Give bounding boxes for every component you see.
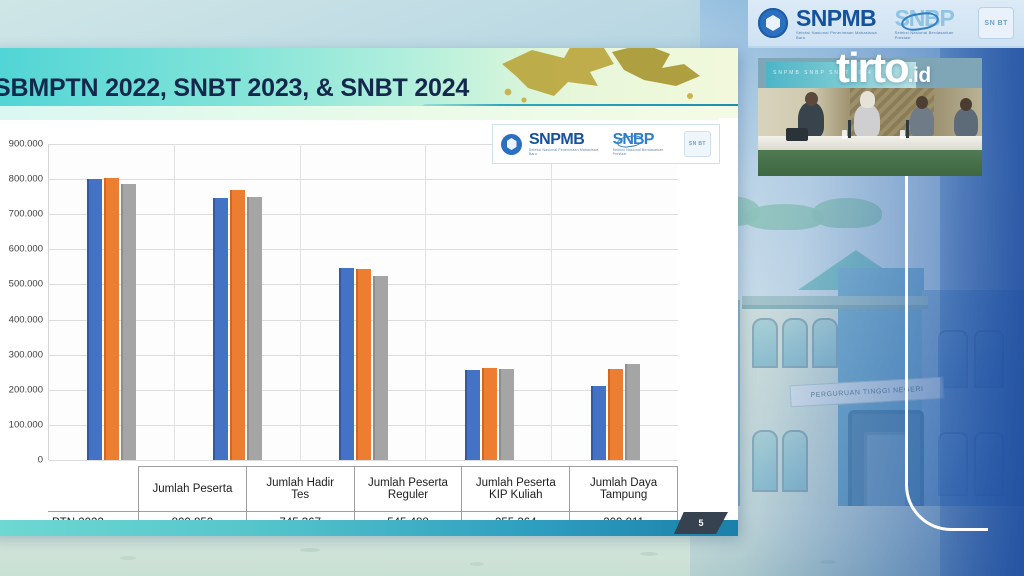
table-column-header: Jumlah PesertaReguler bbox=[354, 467, 462, 512]
tirto-watermark: tirto.id bbox=[836, 47, 931, 89]
chart-group bbox=[552, 144, 678, 460]
y-axis-tick-label: 300.000 bbox=[9, 349, 43, 360]
bar-chart: 900.000800.000700.000600.000500.000400.0… bbox=[0, 136, 696, 476]
bar-snbt-2024[interactable] bbox=[373, 276, 388, 460]
chart-group bbox=[49, 144, 175, 460]
chart-gridline: 0 bbox=[49, 460, 678, 461]
chart-group bbox=[301, 144, 427, 460]
panelist-head bbox=[805, 92, 818, 106]
slide-logo-bar: SNPMB Seleksi Nasional Penerimaan Mahasi… bbox=[492, 124, 720, 164]
screenshot-stage: PERGURUAN TINGGI NEGERI SNPMB Seleksi Na… bbox=[0, 0, 1024, 576]
bar-sbmptn-2022[interactable] bbox=[339, 268, 354, 460]
bar-sbmptn-2022[interactable] bbox=[465, 370, 480, 460]
table-header-row: Jumlah PesertaJumlah HadirTesJumlah Pese… bbox=[48, 467, 678, 512]
glass-icon bbox=[900, 130, 905, 139]
video-plants bbox=[758, 150, 982, 176]
glass-icon bbox=[842, 130, 847, 139]
y-axis-tick-label: 600.000 bbox=[9, 244, 43, 255]
snpmb-wordmark: SNPMB bbox=[529, 132, 606, 148]
tut-wuri-handayani-crest-icon bbox=[758, 8, 788, 38]
slide-right-gutter bbox=[718, 118, 738, 520]
snpmb-wordmark: SNPMB bbox=[796, 7, 887, 30]
tut-wuri-handayani-crest-icon bbox=[501, 134, 522, 155]
y-axis-tick-label: 800.000 bbox=[9, 174, 43, 185]
table-column-header: Jumlah PesertaKIP Kuliah bbox=[462, 467, 570, 512]
ground-speck bbox=[300, 548, 320, 552]
snpmb-tagline: Seleksi Nasional Penerimaan Mahasiswa Ba… bbox=[529, 148, 606, 156]
bar-snbt-2024[interactable] bbox=[247, 197, 262, 460]
y-axis-tick-label: 500.000 bbox=[9, 279, 43, 290]
chart-plot-area: 900.000800.000700.000600.000500.000400.0… bbox=[48, 144, 678, 460]
snbt-logo-icon: SN BT bbox=[684, 131, 711, 157]
panelist bbox=[954, 108, 978, 138]
snbp-tagline: Seleksi Nasional Berdasarkan Prestasi bbox=[613, 148, 677, 156]
snbp-tagline: Seleksi Nasional Berdasarkan Prestasi bbox=[895, 30, 971, 40]
snbt-logo-icon: SN BT bbox=[978, 7, 1014, 39]
slide-number: 5 bbox=[698, 518, 703, 528]
panelist-head bbox=[960, 98, 972, 111]
microphone-icon bbox=[848, 120, 851, 138]
laptop-icon bbox=[786, 128, 808, 141]
chart-group bbox=[426, 144, 552, 460]
y-axis-tick-label: 700.000 bbox=[9, 209, 43, 220]
panelist bbox=[910, 106, 934, 138]
decorative-bracket bbox=[905, 128, 988, 531]
bar-snbt-2023[interactable] bbox=[230, 190, 245, 460]
snpmb-banner: SNPMB Seleksi Nasional Penerimaan Mahasi… bbox=[748, 0, 1024, 48]
ground-speck bbox=[640, 552, 658, 556]
bar-snbt-2023[interactable] bbox=[356, 269, 371, 460]
slide-header-strip bbox=[0, 106, 738, 120]
snbp-wordmark: SNBP bbox=[613, 132, 677, 148]
microphone-icon bbox=[906, 120, 909, 138]
bar-sbmptn-2022[interactable] bbox=[87, 179, 102, 460]
bar-snbt-2024[interactable] bbox=[625, 364, 640, 460]
ground-speck bbox=[470, 562, 484, 566]
bar-snbt-2024[interactable] bbox=[121, 184, 136, 460]
panelist bbox=[854, 104, 880, 138]
bar-sbmptn-2022[interactable] bbox=[213, 198, 228, 460]
y-axis-tick-label: 200.000 bbox=[9, 384, 43, 395]
bar-sbmptn-2022[interactable] bbox=[591, 386, 606, 460]
presentation-slide: SBMPTN 2022, SNBT 2023, & SNBT 2024 SNPM… bbox=[0, 48, 738, 536]
ground-speck bbox=[120, 556, 136, 560]
table-column-header: Jumlah HadirTes bbox=[246, 467, 354, 512]
panelist-head bbox=[916, 96, 928, 109]
y-axis-tick-label: 0 bbox=[38, 455, 43, 466]
panelist-head bbox=[860, 91, 875, 108]
snpmb-tagline: Seleksi Nasional Penerimaan Mahasiswa Ba… bbox=[796, 30, 887, 40]
y-axis-tick-label: 900.000 bbox=[9, 139, 43, 150]
y-axis-tick-label: 100.000 bbox=[9, 419, 43, 430]
table-corner-cell bbox=[48, 467, 139, 512]
tirto-domain: .id bbox=[908, 64, 931, 87]
y-axis-tick-label: 400.000 bbox=[9, 314, 43, 325]
slide-title: SBMPTN 2022, SNBT 2023, & SNBT 2024 bbox=[0, 74, 469, 103]
bar-snbt-2023[interactable] bbox=[608, 369, 623, 460]
table-column-header: Jumlah DayaTampung bbox=[570, 467, 678, 512]
bar-snbt-2023[interactable] bbox=[482, 368, 497, 460]
indonesia-map-graphic bbox=[494, 48, 724, 108]
chart-group bbox=[175, 144, 301, 460]
bar-snbt-2023[interactable] bbox=[104, 178, 119, 460]
chart-groups bbox=[49, 144, 678, 460]
slide-footer-band bbox=[0, 520, 738, 536]
tirto-brand: tirto bbox=[836, 44, 908, 91]
snbp-wordmark: SNBP bbox=[895, 7, 971, 30]
table-column-header: Jumlah Peserta bbox=[139, 467, 247, 512]
bar-snbt-2024[interactable] bbox=[499, 369, 514, 460]
